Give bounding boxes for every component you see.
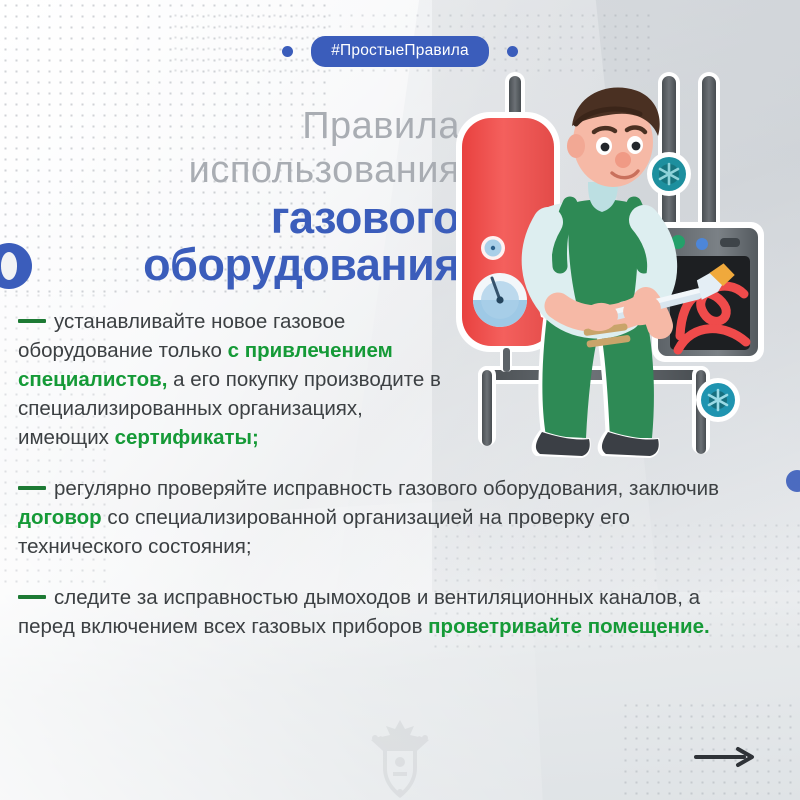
hashtag-badge-row: #ПростыеПравила [0,36,800,67]
valve-wheel-upper [647,152,691,196]
badge-dot-right-icon [507,46,518,57]
bullet-dash-icon [18,595,46,599]
bullet-item-1: устанавливайте новое газовое оборудовани… [18,307,448,452]
bullet-2-text: регулярно проверяйте исправность газовог… [18,477,719,558]
worker-head [567,87,660,187]
page-title: Правила использования газового оборудова… [30,104,460,288]
bullet-3-text: следите за исправностью дымоходов и вент… [18,586,710,638]
investigative-committee-emblem [355,718,445,800]
overall-bib [568,200,637,315]
bullet-item-2: регулярно проверяйте исправность газовог… [18,474,758,561]
ear [567,134,585,158]
title-line-3: газового [30,194,460,241]
bullet-list: устанавливайте новое газовое оборудовани… [18,307,782,663]
poster-root: #ПростыеПравила Правила использования га… [0,0,800,800]
bullet-item-3: следите за исправностью дымоходов и вент… [18,583,758,641]
bullet-dash-icon [18,486,46,490]
next-slide-arrow[interactable] [694,745,756,769]
title-line-1: Правила [30,104,460,148]
hashtag-badge[interactable]: #ПростыеПравила [311,36,489,67]
nose [615,152,631,168]
title-line-2: использования [30,148,460,192]
bullet-dash-icon [18,319,46,323]
badge-dot-left-icon [282,46,293,57]
bullet-1-text: устанавливайте новое газовое оборудовани… [18,310,441,449]
control-knob-blue [696,238,708,250]
title-line-4: оборудования [30,241,460,288]
